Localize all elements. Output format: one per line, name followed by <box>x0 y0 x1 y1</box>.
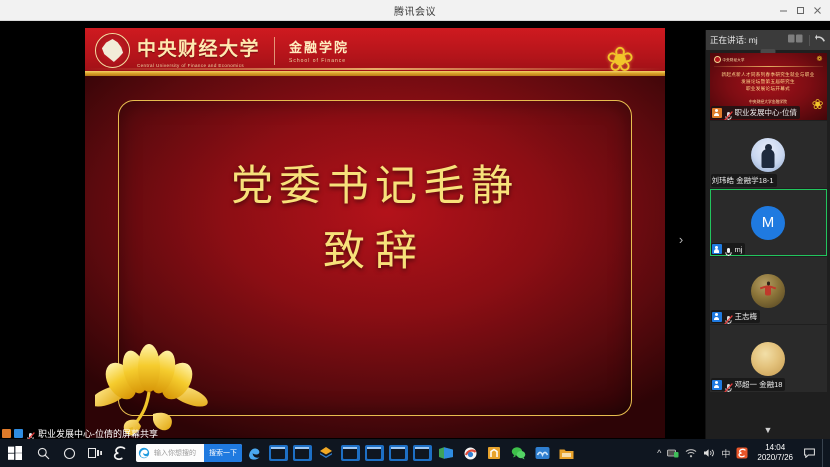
wps-icon[interactable] <box>314 439 338 467</box>
avatar: M <box>751 206 785 240</box>
folder-icon[interactable] <box>554 439 578 467</box>
edge-search-icon <box>136 447 152 459</box>
sogou-tray-icon[interactable] <box>736 447 748 459</box>
host-icon <box>2 429 11 438</box>
participant-badge: 刘玮皓 金融学18-1 <box>711 174 777 187</box>
participant-tile[interactable]: 邓超一 金融18 <box>710 325 827 392</box>
search-submit-button[interactable]: 搜索一下 <box>204 444 242 462</box>
explorer-window-icon[interactable] <box>290 439 314 467</box>
participant-tile-active[interactable]: M mj <box>710 189 827 256</box>
poster-floral-corner-icon: ❁ <box>817 56 823 63</box>
tencent-meeting-icon[interactable] <box>530 439 554 467</box>
participant-name: 王志梅 <box>735 311 758 322</box>
slide-title-line1: 党委书记毛静 <box>85 160 665 213</box>
notes-icon[interactable] <box>482 439 506 467</box>
slide-header-band: 中央财经大学 Central University of Finance and… <box>85 28 665 76</box>
explorer-window-icon[interactable] <box>362 439 386 467</box>
host-icon <box>712 108 722 118</box>
windows-taskbar: 输入你想搜的 搜索一下 <box>0 439 830 467</box>
poster-line: 新起点新人才同系列春季研究生就业与职业 <box>717 71 820 78</box>
system-tray: ^ 中 <box>657 439 830 467</box>
avatar <box>751 274 785 308</box>
search-icon[interactable] <box>30 439 56 467</box>
sidebar-header: 正在讲话: mj <box>706 30 830 50</box>
collapse-arrow-icon[interactable] <box>815 34 826 46</box>
meeting-stage: 中央财经大学 Central University of Finance and… <box>0 21 830 439</box>
clock[interactable]: 14:04 2020/7/26 <box>754 443 796 463</box>
volume-icon[interactable] <box>703 448 715 458</box>
search-input[interactable]: 输入你想搜的 <box>152 448 204 458</box>
participant-icon <box>712 244 722 254</box>
participant-name: 刘玮皓 金融学18-1 <box>712 175 774 186</box>
poster-body: 新起点新人才同系列春季研究生就业与职业 发展论坛暨第五届研究生 职业发展论坛开幕… <box>717 71 820 92</box>
screen-share-banner: 职业发展中心-位倩的屏幕共享 <box>0 428 830 439</box>
wifi-icon[interactable] <box>685 448 697 458</box>
participant-badge: 邓超一 金融18 <box>711 378 786 391</box>
participant-icon <box>712 312 722 322</box>
participant-badge: 王志梅 <box>711 310 761 323</box>
sidebar-header-actions <box>788 34 826 46</box>
participant-badge: 职业发展中心-位倩 <box>711 106 801 119</box>
poster-line: 职业发展论坛开幕式 <box>717 85 820 92</box>
explorer-window-icon[interactable] <box>410 439 434 467</box>
close-icon[interactable] <box>809 2 826 19</box>
participant-badge: mj <box>711 243 746 255</box>
shared-screen-slide[interactable]: 中央财经大学 Central University of Finance and… <box>85 28 665 438</box>
university-seal-icon <box>95 33 130 68</box>
participant-tile[interactable]: 中央财经大学 ❁ 新起点新人才同系列春季研究生就业与职业 发展论坛暨第五届研究生… <box>710 53 827 120</box>
poster-lotus-icon: ❀ <box>812 97 824 111</box>
mic-muted-icon <box>26 429 35 439</box>
university-logo: 中央财经大学 Central University of Finance and… <box>95 33 349 68</box>
avatar <box>751 138 785 172</box>
mic-muted-icon <box>724 380 733 390</box>
participant-name: 邓超一 金融18 <box>735 379 783 390</box>
participant-tile-list[interactable]: 中央财经大学 ❁ 新起点新人才同系列春季研究生就业与职业 发展论坛暨第五届研究生… <box>706 50 830 421</box>
poster-header: 中央财经大学 <box>714 56 745 63</box>
window-controls <box>775 0 826 21</box>
edge-icon[interactable] <box>242 439 266 467</box>
browser-icon[interactable] <box>458 439 482 467</box>
show-desktop-button[interactable] <box>822 439 826 467</box>
school-name-cn: 金融学院 <box>289 37 349 56</box>
explorer-window-icon[interactable] <box>266 439 290 467</box>
slide-title-block: 党委书记毛静 致辞 <box>85 160 665 279</box>
explorer-window-icon[interactable] <box>386 439 410 467</box>
clock-time: 14:04 <box>765 443 785 452</box>
participant-tile[interactable]: 刘玮皓 金融学18-1 <box>710 121 827 188</box>
poster-footer: 中央财经大学金融学院 <box>710 100 827 105</box>
active-speaker-label: 正在讲话: mj <box>710 34 758 46</box>
clock-date: 2020/7/26 <box>757 453 793 462</box>
participant-name: mj <box>735 245 743 254</box>
university-name-cn: 中央财经大学 <box>137 34 260 61</box>
poster-rule <box>714 66 823 67</box>
windows-photos-icon[interactable] <box>434 439 458 467</box>
sogou-icon[interactable] <box>108 439 132 467</box>
network-icon[interactable] <box>667 448 679 458</box>
poster-org: 中央财经大学 <box>723 57 745 62</box>
mic-muted-icon <box>724 108 733 118</box>
windows-start-icon[interactable] <box>0 439 30 467</box>
explorer-window-icon[interactable] <box>338 439 362 467</box>
maximize-icon[interactable] <box>792 2 809 19</box>
action-center-icon[interactable] <box>802 448 816 458</box>
school-name-en: School of Finance <box>289 58 349 64</box>
logo-divider <box>274 37 275 65</box>
participant-sidebar: 正在讲话: mj <box>705 30 830 439</box>
mic-on-icon <box>724 244 733 254</box>
search-box[interactable]: 输入你想搜的 搜索一下 <box>136 444 242 462</box>
mic-muted-icon <box>724 312 733 322</box>
participant-name: 职业发展中心-位倩 <box>735 107 798 118</box>
university-name-en: Central University of Finance and Econom… <box>137 63 260 68</box>
participant-icon <box>712 380 722 390</box>
screen-share-icon <box>14 429 23 438</box>
cortana-circle-icon[interactable] <box>56 439 82 467</box>
task-view-icon[interactable] <box>82 439 108 467</box>
lotus-flower-icon <box>95 344 230 438</box>
window-title: 腾讯会议 <box>394 3 436 18</box>
tray-overflow-icon[interactable]: ^ <box>657 448 661 458</box>
window-titlebar: 腾讯会议 <box>0 0 830 21</box>
sidebar-collapse-chevron-icon[interactable]: › <box>674 229 688 251</box>
minimize-icon[interactable] <box>775 2 792 19</box>
avatar <box>751 342 785 376</box>
grid-view-icon[interactable] <box>788 34 804 46</box>
floral-ornament-icon: ❀ <box>597 38 643 82</box>
ime-indicator[interactable]: 中 <box>721 447 730 460</box>
slide-title-line2: 致辞 <box>85 223 665 280</box>
poster-line: 发展论坛暨第五届研究生 <box>717 78 820 85</box>
wechat-icon[interactable] <box>506 439 530 467</box>
poster-seal-icon <box>714 56 721 63</box>
participant-tile[interactable]: 王志梅 <box>710 257 827 324</box>
header-divider <box>809 35 810 46</box>
